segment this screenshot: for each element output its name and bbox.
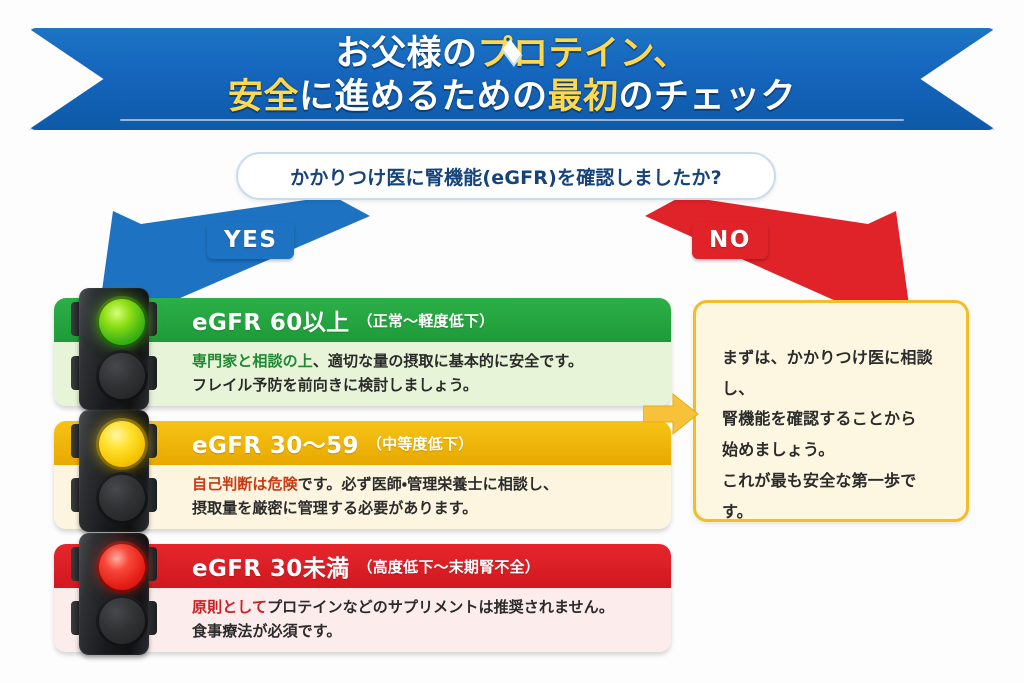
question-text: かかりつけ医に腎機能(eGFR)を確認しましたか? (290, 163, 722, 190)
traffic-light-yellow (71, 410, 157, 532)
banner-line2-part4: のチェック (619, 77, 797, 117)
panel-header-sub: （中等度低下） (367, 433, 473, 454)
banner-line2-part2: に進めるための (299, 77, 548, 117)
panel-header-sub: （高度低下～末期腎不全） (358, 556, 540, 577)
panel-body-line-1: 専門家と相談の上、適切な量の摂取に基本的に安全です。 (192, 349, 657, 373)
lamp-lower-off (96, 350, 148, 402)
lamp-green-on (96, 296, 148, 348)
panel-body-rest: 、適切な量の摂取に基本的に安全です。 (313, 352, 583, 370)
no-result-box: まずは、かかりつけ医に相談し、 腎機能を確認することから 始めましょう。 これが… (693, 300, 969, 522)
panel-header-main: eGFR 30未満 (192, 549, 350, 583)
no-box-line-3: 始めましょう。 (722, 435, 946, 466)
traffic-light-green (71, 288, 157, 410)
panel-body-highlight: 専門家と相談の上 (192, 352, 313, 370)
panel-body-rest: です。必ず医師・管理栄養士に相談し、 (298, 475, 558, 493)
panel-body-highlight: 原則として (192, 598, 267, 616)
panel-header-main: eGFR 30～59 (192, 426, 359, 460)
no-box-line-2: 腎機能を確認することから (722, 404, 946, 435)
panel-body-line-1: 自己判断は危険です。必ず医師・管理栄養士に相談し、 (192, 472, 657, 496)
traffic-light-housing (79, 410, 149, 532)
question-bubble: かかりつけ医に腎機能(eGFR)を確認しましたか? (236, 152, 776, 200)
lamp-lower-off (96, 472, 148, 524)
panel-body-highlight: 自己判断は危険 (192, 475, 298, 493)
panel-body-line-2: 食事療法が必須です。 (192, 619, 657, 643)
panel-body-line-2: 摂取量を厳密に管理する必要があります。 (192, 496, 657, 520)
infographic-canvas: お父様のプロテイン、 安全に進めるための最初のチェック かかりつけ医に腎機能(e… (0, 0, 1024, 683)
panel-body-line-1: 原則としてプロテインなどのサプリメントは推奨されません。 (192, 595, 657, 619)
connector-arrow-icon (643, 392, 699, 436)
no-box-line-4: これが最も安全な第一歩です。 (722, 466, 946, 527)
lamp-yellow-on (96, 418, 148, 470)
panel-header-main: eGFR 60以上 (192, 303, 350, 337)
panel-body-line-2: フレイル予防を前向きに検討しましょう。 (192, 373, 657, 397)
lamp-red-on (96, 541, 148, 593)
branch-label-no: NO (692, 222, 768, 259)
banner-line2-part3: 最初 (548, 77, 619, 117)
lamp-lower-off (96, 595, 148, 647)
traffic-light-housing (79, 533, 149, 655)
traffic-light-housing (79, 288, 149, 410)
panel-body-rest: プロテインなどのサプリメントは推奨されません。 (267, 598, 614, 616)
banner-line1-part1: お父様の (336, 34, 478, 74)
banner-line-2: 安全に進めるための最初のチェック (228, 77, 796, 118)
panel-header-sub: （正常～軽度低下） (358, 310, 495, 331)
traffic-light-red (71, 533, 157, 655)
no-box-line-1: まずは、かかりつけ医に相談し、 (722, 343, 946, 404)
banner-line2-part1: 安全 (228, 77, 299, 117)
branch-label-yes: YES (207, 222, 294, 259)
